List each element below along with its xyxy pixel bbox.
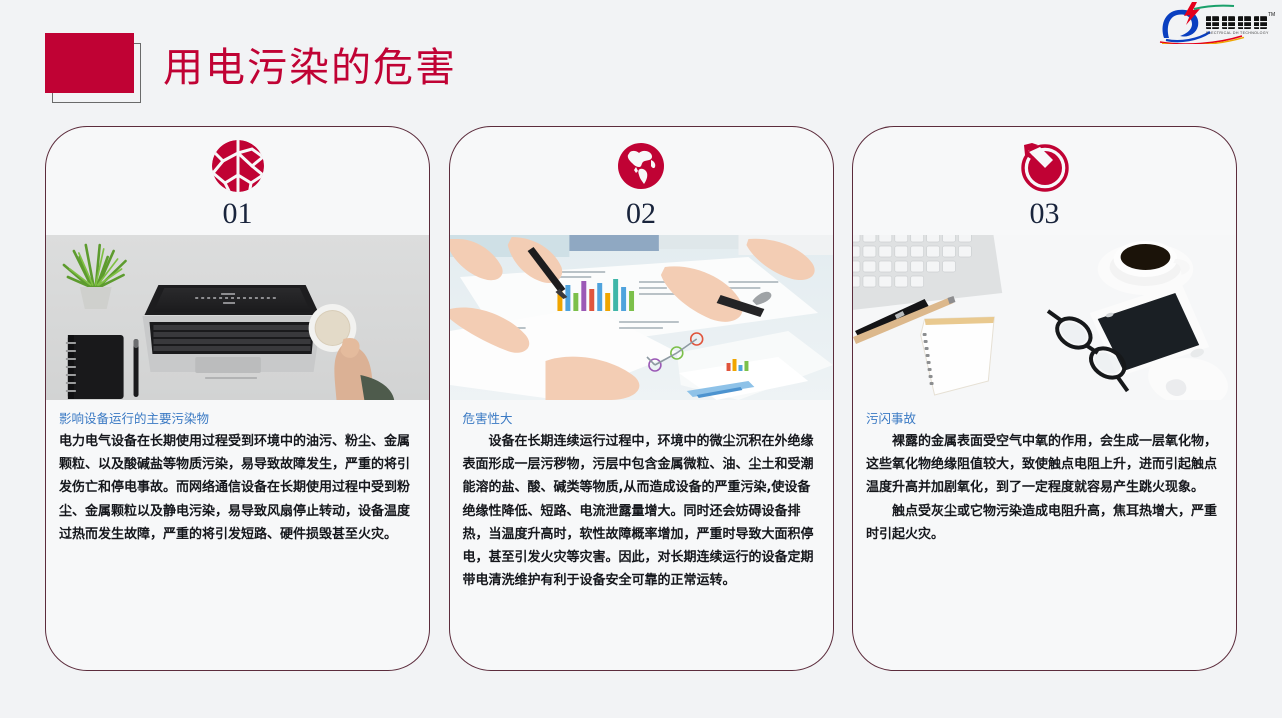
pie-chart-extract-icon — [1018, 139, 1072, 193]
card-03-head: 03 — [853, 127, 1236, 235]
card-03-paragraph-1: 裸露的金属表面受空气中氧的作用，会生成一层氧化物，这些氧化物绝缘阻值较大，致使触… — [866, 430, 1223, 499]
card-02-body: 危害性大 设备在长期连续运行过程中，环境中的微尘沉积在外绝缘表面形成一层污秽物，… — [450, 400, 833, 670]
title-decoration — [45, 33, 141, 103]
cracked-web-circle-icon — [211, 139, 265, 193]
page-title: 用电污染的危害 — [163, 48, 457, 88]
hands-charts-meeting-photo — [450, 235, 833, 400]
card-01[interactable]: 01 — [45, 126, 430, 671]
title-solid-square — [45, 33, 134, 93]
card-02-head: 02 — [450, 127, 833, 235]
card-03[interactable]: 03 — [852, 126, 1237, 671]
card-02[interactable]: 02 — [449, 126, 834, 671]
card-02-subtitle: 危害性大 — [463, 410, 820, 428]
brand-logo: TM ELECTRICAL DH TECHNOLOGY — [1150, 0, 1282, 44]
card-02-number: 02 — [626, 199, 656, 229]
logo-brand-en: ELECTRICAL DH TECHNOLOGY — [1206, 31, 1269, 35]
card-01-number: 01 — [223, 199, 253, 229]
cards-row: 01 — [0, 126, 1282, 671]
white-desk-keyboard-phone-coffee-photo — [853, 235, 1236, 400]
card-01-subtitle: 影响设备运行的主要污染物 — [59, 410, 416, 428]
dianchi-keji-logo-graphic: TM ELECTRICAL DH TECHNOLOGY — [1150, 0, 1282, 44]
logo-trademark: TM — [1268, 12, 1275, 18]
card-03-body: 污闪事故 裸露的金属表面受空气中氧的作用，会生成一层氧化物，这些氧化物绝缘阻值较… — [853, 400, 1236, 670]
card-03-paragraph-2: 触点受灰尘或它物污染造成电阻升高，焦耳热增大，严重时引起火灾。 — [866, 500, 1223, 546]
card-01-head: 01 — [46, 127, 429, 235]
card-01-body: 影响设备运行的主要污染物 电力电气设备在长期使用过程受到环境中的油污、粉尘、金属… — [46, 400, 429, 670]
desk-laptop-plant-coffee-photo — [46, 235, 429, 400]
card-03-number: 03 — [1030, 199, 1060, 229]
globe-americas-icon — [614, 139, 668, 193]
card-01-paragraph: 电力电气设备在长期使用过程受到环境中的油污、粉尘、金属颗粒、以及酸碱盐等物质污染… — [59, 430, 416, 546]
card-02-paragraph: 设备在长期连续运行过程中，环境中的微尘沉积在外绝缘表面形成一层污秽物，污层中包含… — [463, 430, 820, 592]
card-03-subtitle: 污闪事故 — [866, 410, 1223, 428]
slide-header: 用电污染的危害 — [45, 28, 457, 108]
